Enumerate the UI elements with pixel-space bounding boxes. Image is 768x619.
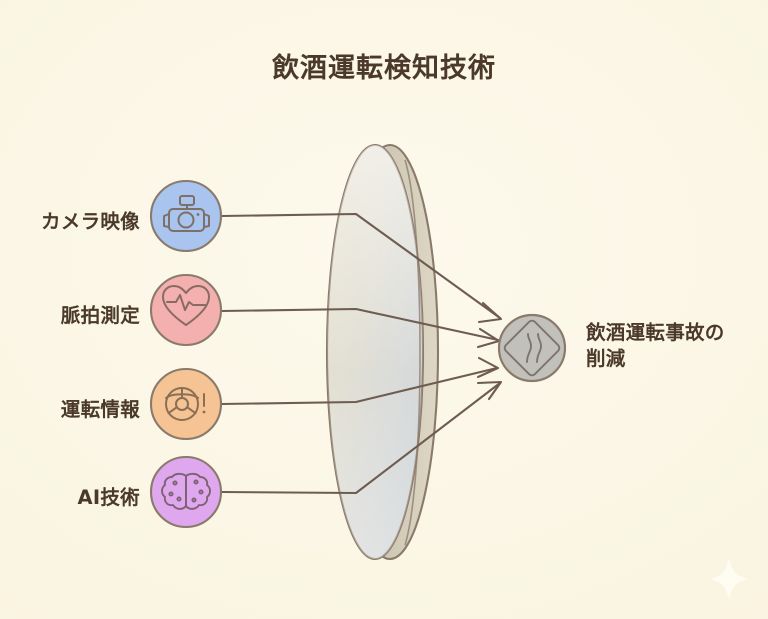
node-pulse[interactable]: [151, 275, 221, 345]
label-ai: AI技術: [10, 481, 140, 510]
label-output-line1: 飲酒運転事故の: [586, 320, 756, 346]
node-driving[interactable]: [151, 369, 221, 439]
sparkle-decoration: [710, 558, 748, 600]
node-ai[interactable]: [151, 457, 221, 527]
diagram-canvas: 飲酒運転検知技術: [0, 0, 768, 619]
processing-lens: [327, 145, 438, 559]
label-driving: 運転情報: [10, 393, 140, 422]
node-output[interactable]: [499, 315, 565, 381]
label-pulse: 脈拍測定: [10, 299, 140, 328]
label-output-line2: 削減: [586, 346, 756, 372]
label-output: 飲酒運転事故の 削減: [586, 320, 756, 371]
arrowhead-driving: [478, 358, 498, 377]
node-camera[interactable]: [151, 181, 221, 251]
label-camera: カメラ映像: [10, 205, 140, 234]
